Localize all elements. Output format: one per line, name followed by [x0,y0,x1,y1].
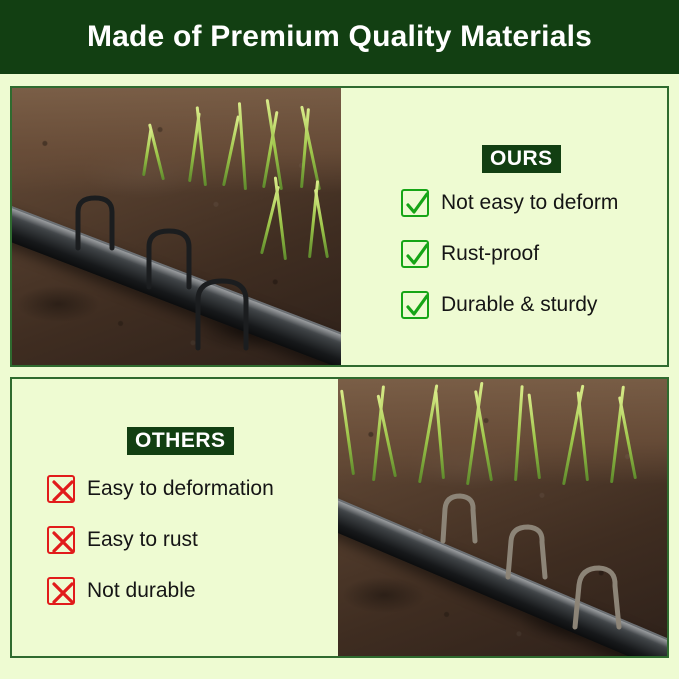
product-photo-ours [12,88,341,365]
page-title: Made of Premium Quality Materials [87,20,592,54]
label-ours: OURS [482,145,561,173]
garden-staple-black [188,274,274,354]
feature-item: Not durable [47,577,196,605]
feature-label: Durable & sturdy [441,293,597,317]
check-icon [401,189,429,217]
feature-label: Not easy to deform [441,191,618,215]
feature-item: Rust-proof [401,240,539,268]
feature-item: Durable & sturdy [401,291,597,319]
feature-item: Easy to deformation [47,475,274,503]
feature-label: Not durable [87,579,196,603]
comparison-infographic: Made of Premium Quality Materials [0,0,679,679]
header-banner: Made of Premium Quality Materials [0,0,679,74]
features-ours: OURS Not easy to deform Rust-proof Durab… [341,88,667,365]
feature-label: Rust-proof [441,242,539,266]
cross-icon [47,577,75,605]
panel-others: OTHERS Easy to deformation Easy to rust [10,377,669,658]
garden-staple-black [70,192,132,252]
check-icon [401,291,429,319]
feature-label: Easy to deformation [87,477,274,501]
garden-staple-rusty [434,489,490,545]
product-photo-others [338,379,667,656]
feature-item: Easy to rust [47,526,198,554]
feature-label: Easy to rust [87,528,198,552]
features-others: OTHERS Easy to deformation Easy to rust [12,379,338,656]
cross-icon [47,526,75,554]
garden-staple-rusty [564,559,638,631]
feature-item: Not easy to deform [401,189,618,217]
check-icon [401,240,429,268]
label-others: OTHERS [127,427,234,455]
panel-ours: OURS Not easy to deform Rust-proof Durab… [10,86,669,367]
cross-icon [47,475,75,503]
garden-staple-rusty [498,519,562,581]
